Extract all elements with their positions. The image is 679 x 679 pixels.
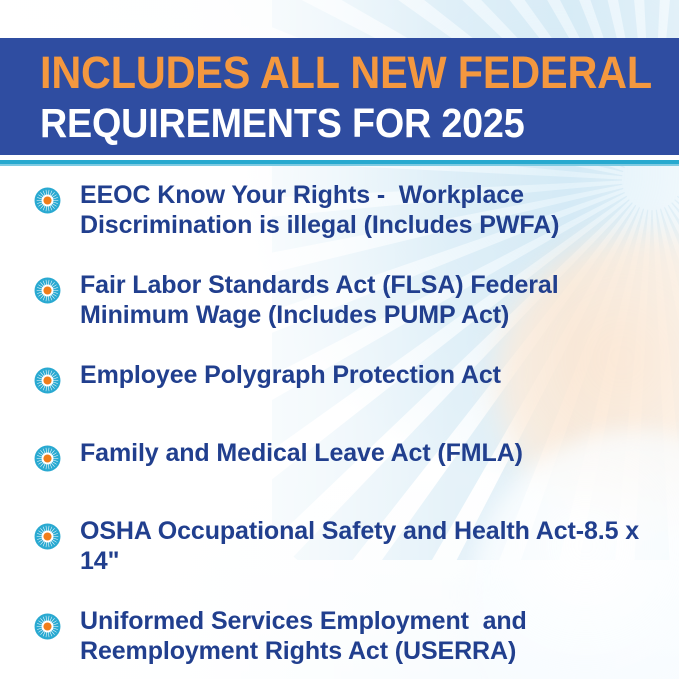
list-item: OSHA Occupational Safety and Health Act-… <box>0 516 679 576</box>
sunburst-icon <box>34 187 61 214</box>
list-item-label: Employee Polygraph Protection Act <box>80 360 640 390</box>
list-item: Employee Polygraph Protection Act <box>0 360 679 402</box>
list-item-label: OSHA Occupational Safety and Health Act-… <box>80 516 640 576</box>
header-banner: INCLUDES ALL NEW FEDERAL REQUIREMENTS FO… <box>0 38 679 155</box>
requirements-list: EEOC Know Your Rights - Workplace Discri… <box>0 180 679 679</box>
header-title-line1: INCLUDES ALL NEW FEDERAL <box>40 47 628 99</box>
poster-canvas: INCLUDES ALL NEW FEDERAL REQUIREMENTS FO… <box>0 0 679 679</box>
list-item-label: Fair Labor Standards Act (FLSA) Federal … <box>80 270 640 330</box>
sunburst-icon <box>34 613 61 640</box>
sunburst-icon <box>34 277 61 304</box>
list-item: Family and Medical Leave Act (FMLA) <box>0 438 679 480</box>
header-title-line2: REQUIREMENTS FOR 2025 <box>40 99 628 147</box>
list-item: Uniformed Services Employment and Reempl… <box>0 606 679 666</box>
divider-cyan-soft <box>0 164 679 166</box>
list-item: EEOC Know Your Rights - Workplace Discri… <box>0 180 679 240</box>
list-item-label: Family and Medical Leave Act (FMLA) <box>80 438 640 468</box>
sunburst-icon <box>34 523 61 550</box>
sunburst-icon <box>34 445 61 472</box>
list-item: Fair Labor Standards Act (FLSA) Federal … <box>0 270 679 330</box>
list-item-label: EEOC Know Your Rights - Workplace Discri… <box>80 180 640 240</box>
list-item-label: Uniformed Services Employment and Reempl… <box>80 606 640 666</box>
sunburst-icon <box>34 367 61 394</box>
